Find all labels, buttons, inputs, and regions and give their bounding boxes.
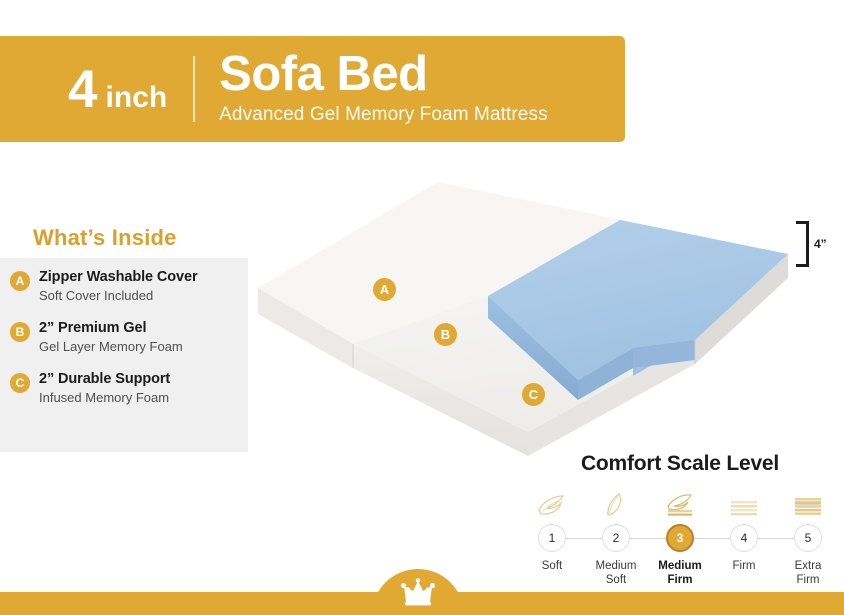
header-size-number: 4 — [68, 63, 96, 116]
inside-item-premium-gel: B 2” Premium Gel Gel Layer Memory Foam — [10, 320, 183, 354]
inside-title-c: 2” Durable Support — [39, 371, 170, 388]
mattress-badge-b: B — [434, 323, 457, 346]
inside-badge-a: A — [10, 271, 30, 291]
product-title: Sofa Bed — [219, 50, 548, 100]
comfort-scale-steps: 1 Soft 2 MediumSoft 3 MediumF — [522, 486, 838, 588]
comfort-number-1: 1 — [538, 524, 566, 552]
comfort-step-5[interactable]: 5 ExtraFirm — [778, 486, 838, 588]
comfort-number-2: 2 — [602, 524, 630, 552]
comfort-label-4: Firm — [733, 559, 756, 573]
inside-title-a: Zipper Washable Cover — [39, 269, 198, 286]
inside-badge-b: B — [10, 322, 30, 342]
inside-text-b: 2” Premium Gel Gel Layer Memory Foam — [39, 320, 183, 354]
feather-curl-icon — [535, 486, 569, 518]
header-size-group: 4 inch — [68, 63, 167, 116]
header-divider — [193, 56, 195, 122]
header-titles: Sofa Bed Advanced Gel Memory Foam Mattre… — [219, 50, 548, 129]
comfort-label-2: MediumSoft — [596, 559, 637, 588]
layers-icon — [727, 486, 761, 518]
inside-item-zipper-washable-cover: A Zipper Washable Cover Soft Cover Inclu… — [10, 269, 198, 303]
comfort-number-5: 5 — [794, 524, 822, 552]
product-subtitle: Advanced Gel Memory Foam Mattress — [219, 103, 548, 127]
header-banner: 4 inch Sofa Bed Advanced Gel Memory Foam… — [0, 36, 625, 142]
feather-icon — [599, 486, 633, 518]
comfort-number-3: 3 — [666, 524, 694, 552]
inside-text-a: Zipper Washable Cover Soft Cover Include… — [39, 269, 198, 303]
comfort-number-4: 4 — [730, 524, 758, 552]
header-size-unit: inch — [105, 83, 167, 113]
height-marker: 4” — [796, 221, 827, 267]
inside-subtitle-c: Infused Memory Foam — [39, 390, 170, 406]
whats-inside-heading: What’s Inside — [33, 225, 177, 251]
comfort-label-3: MediumFirm — [658, 559, 701, 588]
comfort-step-4[interactable]: 4 Firm — [714, 486, 774, 588]
comfort-step-1[interactable]: 1 Soft — [522, 486, 582, 588]
mattress-badge-c: C — [522, 383, 545, 406]
crown-icon — [392, 578, 444, 608]
crown-badge — [372, 569, 464, 615]
comfort-scale-section: Comfort Scale Level 1 Soft 2 MediumSoft — [522, 452, 838, 588]
inside-item-durable-support: C 2” Durable Support Infused Memory Foam — [10, 371, 170, 405]
dense-layers-icon — [791, 486, 825, 518]
inside-badge-c: C — [10, 373, 30, 393]
inside-title-b: 2” Premium Gel — [39, 320, 183, 337]
whats-inside-panel: A Zipper Washable Cover Soft Cover Inclu… — [0, 258, 248, 452]
height-bracket-icon — [796, 221, 809, 267]
height-label: 4” — [814, 237, 827, 251]
comfort-step-2[interactable]: 2 MediumSoft — [586, 486, 646, 588]
feather-on-layers-icon — [663, 486, 697, 518]
comfort-step-3[interactable]: 3 MediumFirm — [650, 486, 710, 588]
inside-subtitle-b: Gel Layer Memory Foam — [39, 339, 183, 355]
comfort-label-5: ExtraFirm — [795, 559, 822, 588]
inside-text-c: 2” Durable Support Infused Memory Foam — [39, 371, 170, 405]
comfort-label-1: Soft — [542, 559, 562, 573]
mattress-svg — [248, 168, 808, 458]
comfort-scale-heading: Comfort Scale Level — [522, 452, 838, 476]
mattress-cutaway-illustration: A B C — [248, 168, 808, 458]
mattress-badge-a: A — [373, 278, 396, 301]
inside-subtitle-a: Soft Cover Included — [39, 288, 198, 304]
